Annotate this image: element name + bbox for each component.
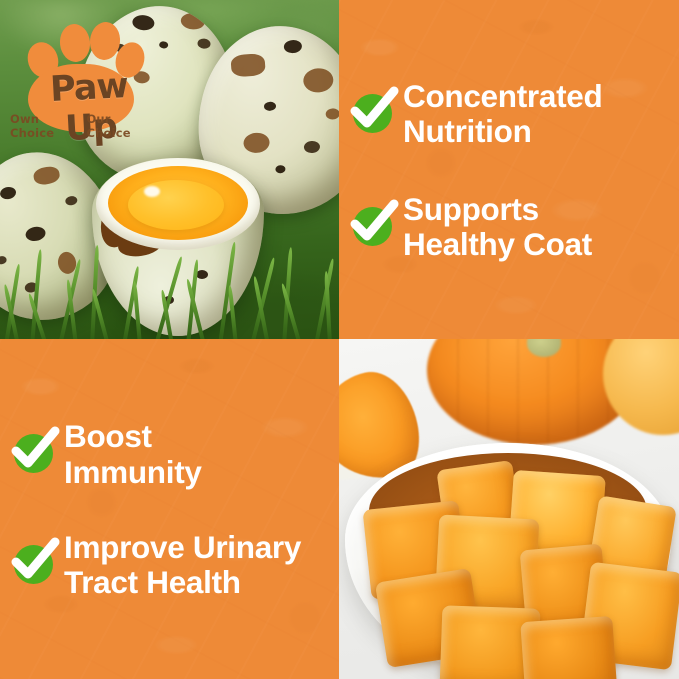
benefit-item-boost-immunity: Boost Immunity (8, 417, 329, 490)
green-check-icon (347, 196, 399, 248)
benefit-item-improve-urinary-tract-health: Improve Urinary Tract Health (8, 528, 329, 601)
yolk-highlight (144, 186, 160, 197)
white-bowl (345, 443, 671, 673)
benefit-label: Boost Immunity (64, 417, 202, 490)
benefit-label: Improve Urinary Tract Health (64, 528, 301, 601)
benefit-line-1: Improve Urinary (64, 529, 301, 565)
pumpkin-cube (520, 616, 617, 679)
logo-tagline-right: Our Choice (86, 112, 158, 140)
benefits-infographic: Paw Up Own Choice Our Choice Concentrate… (0, 0, 679, 679)
paw-toe-icon (58, 23, 92, 64)
benefit-line-1: Boost (64, 418, 152, 454)
benefit-line-2: Tract Health (64, 565, 301, 600)
benefit-label: Supports Healthy Coat (403, 190, 592, 263)
benefits-panel-bottom-left: Boost Immunity Improve Urinary Tract Hea… (0, 339, 339, 679)
green-check-icon (8, 423, 60, 475)
benefit-line-2: Nutrition (403, 114, 602, 149)
benefit-item-concentrated-nutrition: Concentrated Nutrition (347, 77, 669, 150)
logo-tagline-left: Own Choice (10, 112, 86, 140)
photo-panel-quail-eggs: Paw Up Own Choice Our Choice (0, 0, 339, 339)
benefit-item-supports-healthy-coat: Supports Healthy Coat (347, 190, 669, 263)
benefits-panel-top-right: Concentrated Nutrition Supports Healthy … (339, 0, 679, 339)
benefit-line-2: Healthy Coat (403, 227, 592, 262)
grass-blades (0, 221, 339, 339)
green-check-icon (347, 83, 399, 135)
logo-tagline: Own Choice Our Choice (10, 112, 158, 140)
benefit-line-1: Supports (403, 191, 539, 227)
benefit-line-2: Immunity (64, 455, 202, 490)
pumpkin-cubes-photo (339, 339, 679, 679)
benefit-label: Concentrated Nutrition (403, 77, 602, 150)
green-check-icon (8, 534, 60, 586)
paw-up-logo: Paw Up Own Choice Our Choice (10, 16, 154, 128)
photo-panel-pumpkin-cubes (339, 339, 679, 679)
benefit-line-1: Concentrated (403, 78, 602, 114)
